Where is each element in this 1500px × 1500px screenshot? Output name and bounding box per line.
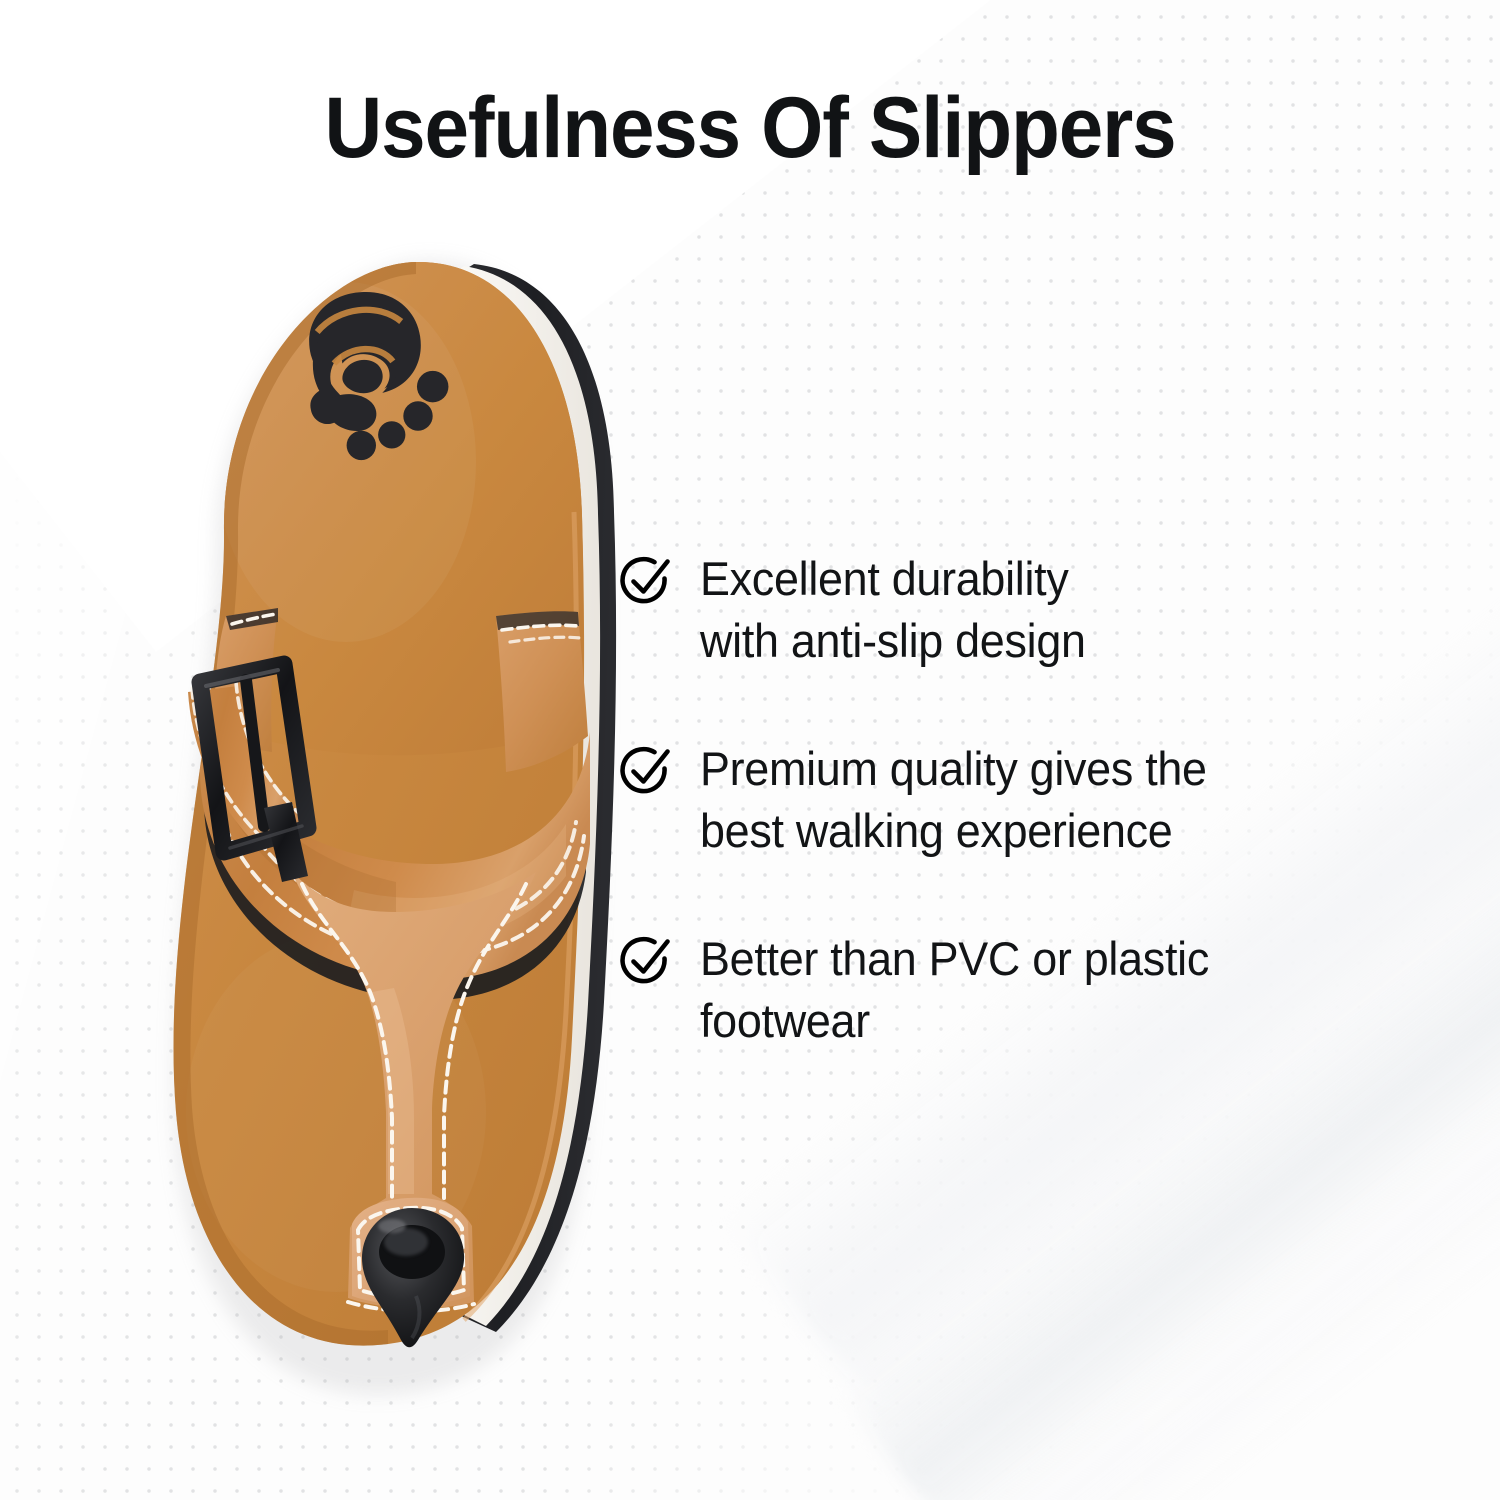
list-item-label: Premium quality gives the best walking e… — [700, 738, 1207, 862]
list-item-label: Better than PVC or plastic footwear — [700, 928, 1209, 1052]
check-circle-icon — [618, 744, 674, 800]
list-item: Excellent durability with anti-slip desi… — [618, 548, 1418, 672]
page-title: Usefulness Of Slippers — [53, 80, 1448, 176]
check-circle-icon — [618, 554, 674, 610]
list-item: Better than PVC or plastic footwear — [618, 928, 1418, 1052]
list-item: Premium quality gives the best walking e… — [618, 738, 1418, 862]
feature-list: Excellent durability with anti-slip desi… — [618, 548, 1418, 1052]
check-circle-icon — [618, 934, 674, 990]
list-item-label: Excellent durability with anti-slip desi… — [700, 548, 1086, 672]
